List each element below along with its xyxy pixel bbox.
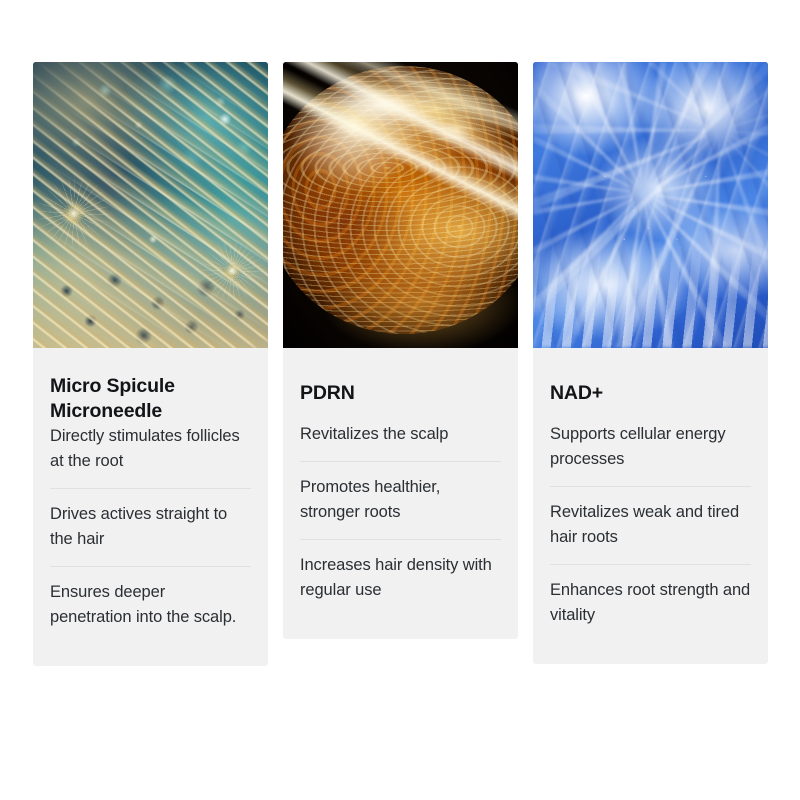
card-body: PDRN Revitalizes the scalp Promotes heal…	[283, 348, 518, 639]
nad-plus-image	[533, 62, 768, 348]
card-title: Micro Spicule Microneedle	[50, 348, 251, 424]
card-body: Micro Spicule Microneedle Directly stimu…	[33, 348, 268, 666]
feature-item: Promotes healthier, stronger roots	[300, 461, 501, 539]
card-body: NAD+ Supports cellular energy processes …	[533, 348, 768, 664]
card-title: PDRN	[300, 348, 501, 422]
feature-list: Directly stimulates follicles at the roo…	[50, 424, 251, 644]
feature-item: Drives actives straight to the hair	[50, 488, 251, 566]
feature-item: Revitalizes weak and tired hair roots	[550, 486, 751, 564]
micro-spicule-microneedle-image	[33, 62, 268, 348]
feature-item: Revitalizes the scalp	[300, 422, 501, 461]
ingredient-card-row: Micro Spicule Microneedle Directly stimu…	[33, 62, 768, 666]
feature-item: Ensures deeper penetration into the scal…	[50, 566, 251, 644]
ingredient-card-pdrn[interactable]: PDRN Revitalizes the scalp Promotes heal…	[283, 62, 518, 639]
pdrn-image	[283, 62, 518, 348]
card-title: NAD+	[550, 348, 751, 422]
feature-item: Increases hair density with regular use	[300, 539, 501, 617]
feature-item: Directly stimulates follicles at the roo…	[50, 424, 251, 488]
ingredient-card-micro-spicule-microneedle[interactable]: Micro Spicule Microneedle Directly stimu…	[33, 62, 268, 666]
feature-item: Supports cellular energy processes	[550, 422, 751, 486]
spark-glow-layer	[33, 62, 268, 348]
warm-glow-layer	[283, 62, 518, 348]
ingredient-benefits-board: Micro Spicule Microneedle Directly stimu…	[0, 0, 800, 800]
feature-list: Revitalizes the scalp Promotes healthier…	[300, 422, 501, 617]
feature-list: Supports cellular energy processes Revit…	[550, 422, 751, 642]
ingredient-card-nad-plus[interactable]: NAD+ Supports cellular energy processes …	[533, 62, 768, 664]
feature-item: Enhances root strength and vitality	[550, 564, 751, 642]
bottom-wave-layer	[533, 238, 768, 348]
